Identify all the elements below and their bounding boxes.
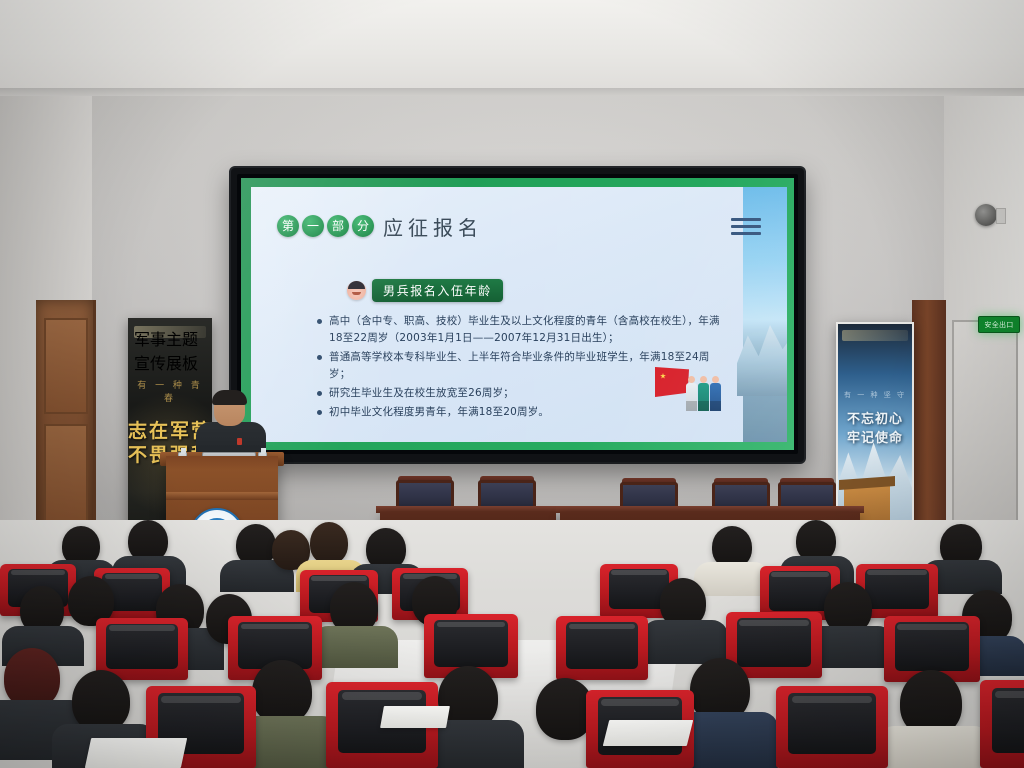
soldier-figure — [698, 383, 709, 411]
audience-head — [72, 670, 130, 732]
slide-subtitle-label: 男兵报名入伍年龄 — [372, 279, 503, 302]
screenshot-root: 安全出口 第 一 部 分 应征报名 — [0, 0, 1024, 768]
exit-sign: 安全出口 — [978, 316, 1020, 333]
auditorium-seat[interactable] — [980, 680, 1024, 768]
section-chip-2: 一 — [302, 215, 324, 237]
audience-shoulders — [694, 562, 770, 596]
handout-paper[interactable] — [85, 738, 187, 768]
wall-bracket — [996, 208, 1006, 224]
right-door[interactable] — [952, 320, 1018, 550]
right-banner-subtitle: 有 一 种 坚 守 — [838, 390, 912, 400]
audience-shoulders — [878, 726, 990, 768]
right-banner-line-2: 牢记使命 — [838, 427, 912, 446]
ceiling — [0, 0, 1024, 96]
bullet-text-wrap: 高中（含中专、职高、技校）毕业生及以上文化程度的青年（含高校在校生），年满 18… — [329, 313, 727, 347]
right-banner-line-1: 不忘初心 — [838, 408, 912, 427]
slide-subtitle-badge: 男兵报名入伍年龄 — [347, 279, 503, 302]
wall-speaker-icon — [975, 204, 997, 226]
slide-frame: 第 一 部 分 应征报名 男兵报名入伍年龄 — [241, 178, 794, 450]
presenter-badge-icon — [237, 438, 242, 445]
bullet-item: 高中（含中专、职高、技校）毕业生及以上文化程度的青年（含高校在校生），年满 18… — [317, 313, 727, 347]
bullet-dot-icon — [317, 391, 322, 396]
bullet-line-2: 18至22周岁（2003年1月1日——2007年12月31日出生）； — [329, 330, 727, 347]
slide-header: 第 一 部 分 应征报名 — [277, 209, 761, 243]
soldier-figure — [710, 383, 721, 411]
hamburger-icon — [731, 218, 761, 235]
bullet-dot-icon — [317, 319, 322, 324]
exit-sign-label: 安全出口 — [984, 320, 1013, 330]
handout-paper[interactable] — [603, 720, 693, 746]
audience-head — [310, 522, 348, 564]
audience-head — [4, 648, 60, 708]
section-chip-3: 部 — [327, 215, 349, 237]
audience-area — [0, 520, 1024, 768]
podium-lip — [166, 492, 278, 500]
bullet-line: 研究生毕业生及在校生放宽至26周岁； — [329, 387, 514, 399]
audience-head — [252, 660, 312, 724]
slide-title: 应征报名 — [383, 212, 483, 241]
presenter-hair — [212, 390, 247, 405]
auditorium-seat[interactable] — [556, 616, 648, 680]
left-door-panel-upper — [44, 318, 88, 414]
slide-body: 第 一 部 分 应征报名 男兵报名入伍年龄 — [251, 187, 787, 442]
bullet-dot-icon — [317, 355, 322, 360]
left-banner-header: 军事主题宣传展板 — [134, 326, 206, 338]
soldiers-with-red-flag-illustration — [655, 365, 727, 411]
section-chip-1: 第 — [277, 215, 299, 237]
soldier-figure — [686, 383, 697, 411]
section-chip-group: 第 一 部 分 — [277, 215, 374, 237]
left-door-panel-lower — [44, 424, 88, 528]
auditorium-seat[interactable] — [776, 686, 888, 768]
red-flag-icon — [655, 367, 689, 397]
handout-paper[interactable] — [380, 706, 450, 728]
audience-shoulders — [312, 626, 398, 668]
section-chip-4: 分 — [352, 215, 374, 237]
bullet-dot-icon — [317, 410, 322, 415]
bullet-line: 普通高等学校本专科毕业生、上半年符合毕业条件的毕业班学生，年满18至24周岁； — [329, 351, 710, 380]
boy-face-icon — [347, 281, 366, 300]
bullet-line: 高中（含中专、职高、技校）毕业生及以上文化程度的青年（含高校在校生），年满 — [329, 315, 720, 327]
right-banner-header — [842, 330, 908, 341]
presentation-screen[interactable]: 第 一 部 分 应征报名 男兵报名入伍年龄 — [231, 168, 804, 462]
bullet-line: 初中毕业文化程度男青年，年满18至20周岁。 — [329, 406, 549, 418]
